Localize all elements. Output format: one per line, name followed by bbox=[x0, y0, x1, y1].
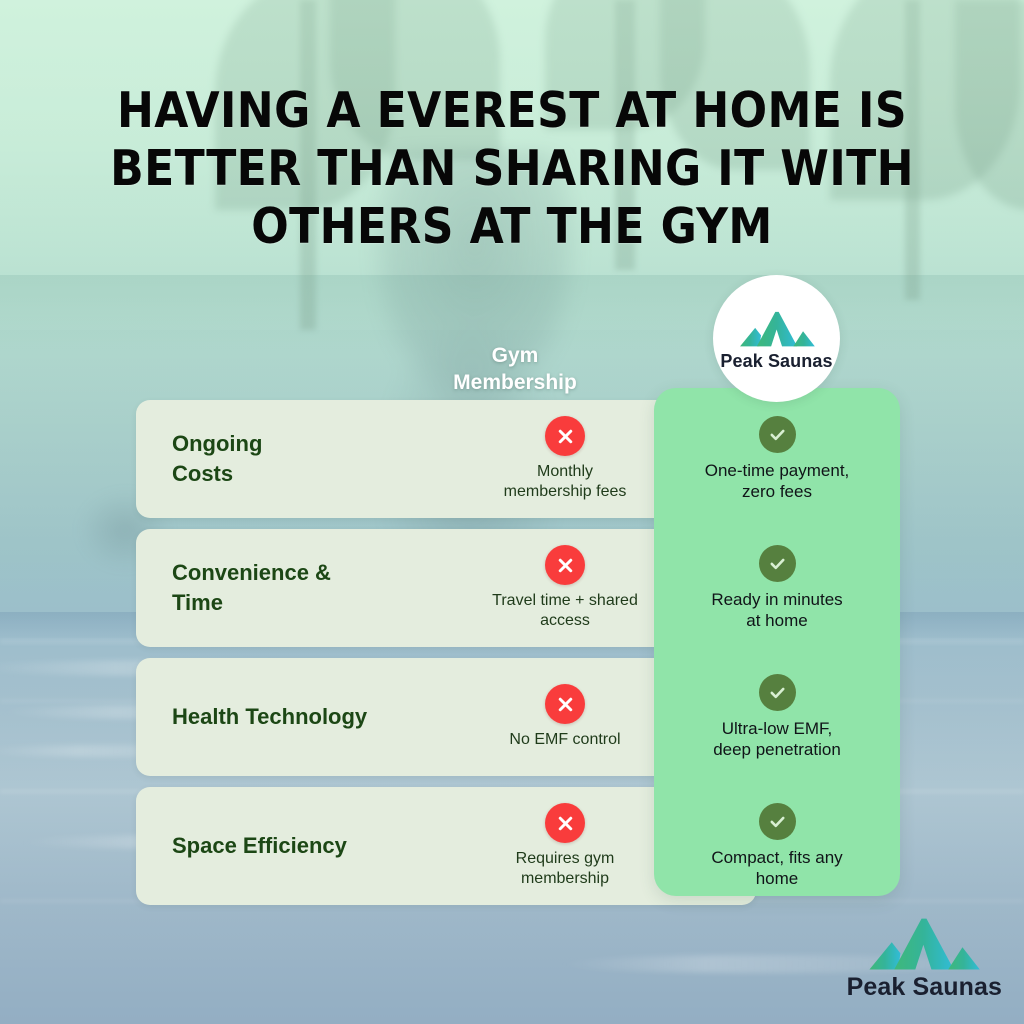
peak-cell-text: One-time payment, zero fees bbox=[705, 460, 850, 502]
peak-cell: Ready in minutes at home bbox=[654, 529, 900, 647]
row-label-line-2: Time bbox=[172, 588, 436, 618]
column-header-gym-line-2: Membership bbox=[453, 371, 577, 394]
row-label-line-2: Costs bbox=[172, 459, 436, 489]
gym-text-line-2: membership bbox=[521, 870, 609, 887]
gym-cell: Monthly membership fees bbox=[436, 416, 686, 502]
peak-saunas-cells: One-time payment, zero fees Ready in min… bbox=[654, 400, 900, 916]
peak-text-line-2: at home bbox=[746, 611, 807, 630]
check-circle-icon bbox=[759, 416, 796, 453]
gym-text-line-2: membership fees bbox=[504, 483, 627, 500]
gym-cell: Requires gym membership bbox=[436, 803, 686, 889]
mountain-logo-icon bbox=[735, 306, 819, 348]
headline-line-2: BETTER THAN SHARING IT WITH bbox=[50, 140, 974, 198]
row-label-health-technology: Health Technology bbox=[136, 702, 436, 732]
logo-wordmark: Peak Saunas bbox=[720, 351, 832, 372]
row-label-space-efficiency: Space Efficiency bbox=[136, 831, 436, 861]
row-label-ongoing-costs: Ongoing Costs bbox=[136, 429, 436, 489]
gym-cell-text: No EMF control bbox=[509, 730, 620, 750]
peak-cell: Compact, fits any home bbox=[654, 787, 900, 905]
gym-text-line-1: Requires gym bbox=[516, 850, 615, 867]
row-label-line-1: Convenience & bbox=[172, 560, 331, 585]
gym-text-line-1: No EMF control bbox=[509, 731, 620, 748]
footer-logo-wordmark: Peak Saunas bbox=[847, 973, 1002, 1002]
x-circle-icon bbox=[545, 545, 585, 585]
peak-text-line-2: home bbox=[756, 869, 799, 888]
column-header-gym-line-1: Gym bbox=[492, 344, 539, 367]
peak-cell-text: Compact, fits any home bbox=[711, 847, 842, 889]
peak-text-line-1: Ready in minutes bbox=[711, 590, 842, 609]
peak-text-line-1: Compact, fits any bbox=[711, 848, 842, 867]
x-circle-icon bbox=[545, 803, 585, 843]
headline-line-3: OTHERS AT THE GYM bbox=[50, 198, 974, 256]
gym-text-line-1: Monthly bbox=[537, 463, 593, 480]
peak-text-line-1: One-time payment, bbox=[705, 461, 850, 480]
check-circle-icon bbox=[759, 803, 796, 840]
column-header-gym-membership: Gym Membership bbox=[390, 342, 640, 396]
gym-cell-text: Requires gym membership bbox=[516, 849, 615, 889]
footer-logo: Peak Saunas bbox=[847, 910, 1002, 1002]
check-circle-icon bbox=[759, 674, 796, 711]
peak-cell: One-time payment, zero fees bbox=[654, 400, 900, 518]
peak-saunas-logo-badge: Peak Saunas bbox=[713, 275, 840, 402]
peak-cell: Ultra-low EMF, deep penetration bbox=[654, 658, 900, 776]
gym-cell-text: Monthly membership fees bbox=[504, 462, 627, 502]
row-label-convenience-time: Convenience & Time bbox=[136, 558, 436, 618]
mountain-logo-icon bbox=[858, 910, 990, 972]
gym-cell-text: Travel time + shared access bbox=[492, 591, 638, 631]
row-label-line-1: Health Technology bbox=[172, 704, 367, 729]
peak-cell-text: Ultra-low EMF, deep penetration bbox=[713, 718, 841, 760]
row-label-line-1: Ongoing bbox=[172, 431, 262, 456]
check-circle-icon bbox=[759, 545, 796, 582]
gym-cell: No EMF control bbox=[436, 684, 686, 750]
headline-line-1: HAVING A EVEREST AT HOME IS bbox=[50, 82, 974, 140]
peak-text-line-2: deep penetration bbox=[713, 740, 841, 759]
gym-text-line-1: Travel time + shared bbox=[492, 592, 638, 609]
peak-cell-text: Ready in minutes at home bbox=[711, 589, 842, 631]
page-title: HAVING A EVEREST AT HOME IS BETTER THAN … bbox=[0, 82, 1024, 256]
x-circle-icon bbox=[545, 416, 585, 456]
gym-text-line-2: access bbox=[540, 612, 590, 629]
gym-cell: Travel time + shared access bbox=[436, 545, 686, 631]
x-circle-icon bbox=[545, 684, 585, 724]
peak-text-line-1: Ultra-low EMF, bbox=[722, 719, 833, 738]
row-label-line-1: Space Efficiency bbox=[172, 833, 347, 858]
peak-text-line-2: zero fees bbox=[742, 482, 812, 501]
